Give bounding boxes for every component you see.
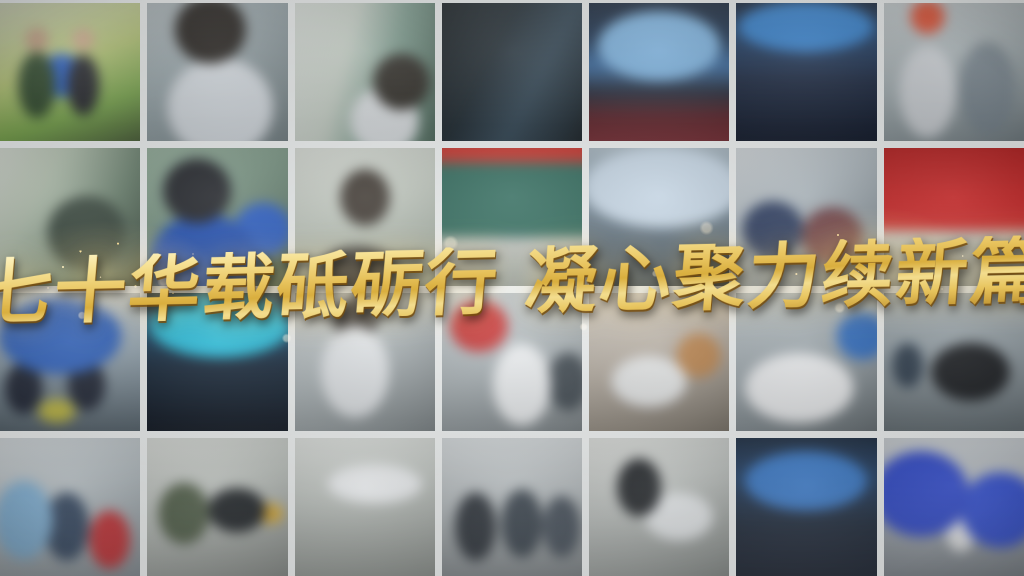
video-frame: 七十华载砥砺行凝心聚力续新篇 (0, 0, 1024, 576)
mosaic-tile (884, 293, 1024, 431)
mosaic-tile (0, 438, 140, 576)
mosaic-tile (442, 3, 582, 141)
mosaic-tile (589, 148, 729, 286)
mosaic-tile (589, 438, 729, 576)
mosaic-tile (0, 3, 140, 141)
mosaic-tile (0, 148, 140, 286)
mosaic-tile (295, 148, 435, 286)
mosaic-tile (147, 438, 287, 576)
mosaic-tile (442, 293, 582, 431)
mosaic-tile (442, 438, 582, 576)
mosaic-tile (884, 3, 1024, 141)
mosaic-tile (147, 293, 287, 431)
mosaic-tile (884, 438, 1024, 576)
mosaic-tile (736, 3, 876, 141)
mosaic-tile (589, 293, 729, 431)
mosaic-tile (295, 3, 435, 141)
photo-mosaic-grid (0, 0, 1024, 576)
mosaic-tile (295, 438, 435, 576)
mosaic-tile (589, 3, 729, 141)
mosaic-tile (884, 148, 1024, 286)
mosaic-tile (295, 293, 435, 431)
mosaic-tile (0, 293, 140, 431)
mosaic-tile (442, 148, 582, 286)
mosaic-tile (147, 3, 287, 141)
mosaic-tile (736, 438, 876, 576)
mosaic-tile (736, 293, 876, 431)
mosaic-tile (736, 148, 876, 286)
mosaic-tile (147, 148, 287, 286)
